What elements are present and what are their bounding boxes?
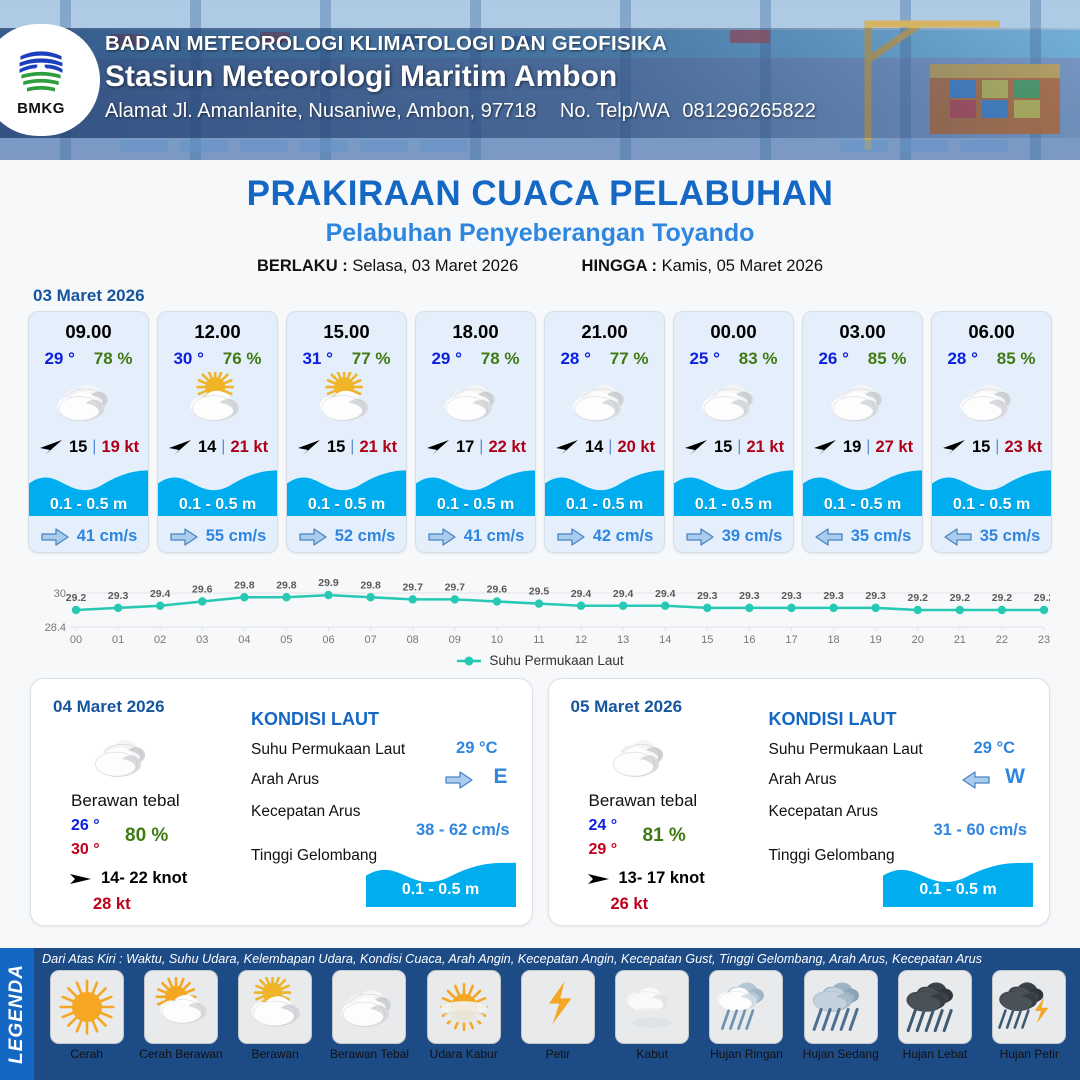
wind-direction-icon	[69, 871, 93, 887]
daily-wind-range: 14- 22 knot	[101, 869, 187, 888]
card-wind: 15 | 21 kt	[287, 437, 406, 457]
sea-condition-title: KONDISI LAUT	[769, 709, 897, 730]
card-temp-hum: 29 ° 78 %	[416, 349, 535, 369]
sst-label: Suhu Permukaan Laut	[251, 741, 405, 759]
legend-item-label: Hujan Ringan	[710, 1047, 783, 1061]
current-dir-value: W	[1005, 765, 1025, 789]
legend-section: LEGENDA Dari Atas Kiri : Waktu, Suhu Uda…	[0, 948, 1080, 1080]
current-direction-icon	[444, 771, 474, 789]
card-gust: 20 kt	[617, 438, 655, 457]
card-humidity: 76 %	[223, 349, 262, 369]
card-wind-separator: |	[995, 438, 999, 456]
card-time: 15.00	[287, 321, 406, 343]
card-humidity: 78 %	[94, 349, 133, 369]
card-current: 35 cm/s	[932, 527, 1051, 546]
card-temp-hum: 28 ° 77 %	[545, 349, 664, 369]
sst-value: 29 °C	[974, 739, 1015, 758]
svg-text:29.4: 29.4	[655, 588, 676, 600]
svg-text:29.2: 29.2	[950, 592, 971, 604]
daily-temp-min: 24 °	[589, 817, 618, 835]
card-wave-height: 0.1 - 0.5 m	[803, 496, 922, 514]
legend-item-label: Hujan Lebat	[903, 1047, 968, 1061]
wave-height-label: Tinggi Gelombang	[251, 847, 377, 865]
page-subtitle: Pelabuhan Penyeberangan Toyando	[0, 219, 1080, 248]
card-humidity: 78 %	[481, 349, 520, 369]
daily-weather-icon	[89, 727, 169, 792]
page-title: PRAKIRAAN CUACA PELABUHAN	[0, 174, 1080, 214]
card-wind-speed: 15	[714, 438, 732, 457]
phone-number: 081296265822	[682, 100, 815, 122]
card-temperature: 29 °	[431, 349, 461, 369]
wind-direction-icon	[683, 437, 709, 457]
forecast-card: 21.00 28 ° 77 % 14 | 20 kt 0.1 - 0.5 m	[544, 311, 665, 553]
card-weather-icon	[545, 373, 664, 429]
card-wave-height: 0.1 - 0.5 m	[932, 496, 1051, 514]
svg-text:17: 17	[785, 634, 797, 646]
legend-item: Hujan Petir	[985, 970, 1074, 1061]
forecast-card: 09.00 29 ° 78 % 15 | 19 kt 0.1 - 0.5 m	[28, 311, 149, 553]
card-wind-separator: |	[221, 438, 225, 456]
daily-date: 05 Maret 2026	[571, 697, 683, 717]
current-direction-icon	[814, 528, 844, 546]
card-current: 41 cm/s	[416, 527, 535, 546]
card-temp-hum: 29 ° 78 %	[29, 349, 148, 369]
daily-gust: 26 kt	[611, 895, 649, 914]
svg-text:16: 16	[743, 634, 755, 646]
legend-item-label: Berawan Tebal	[330, 1047, 409, 1061]
agency-name: BADAN METEOROLOGI KLIMATOLOGI DAN GEOFIS…	[105, 32, 816, 56]
svg-text:23: 23	[1038, 634, 1050, 646]
station-address: Alamat Jl. Amanlanite, Nusaniwe, Ambon, …	[105, 100, 536, 122]
hourly-forecast-list: 09.00 29 ° 78 % 15 | 19 kt 0.1 - 0.5 m	[0, 311, 1080, 553]
svg-text:09: 09	[449, 634, 461, 646]
card-time: 00.00	[674, 321, 793, 343]
current-dir-value: E	[493, 765, 507, 789]
valid-from-value: Selasa, 03 Maret 2026	[352, 257, 518, 275]
svg-text:29.2: 29.2	[1034, 592, 1050, 604]
card-wind-speed: 14	[198, 438, 216, 457]
card-wind: 14 | 20 kt	[545, 437, 664, 457]
card-weather-icon	[932, 373, 1051, 429]
current-direction-icon	[685, 528, 715, 546]
daily-humidity: 80 %	[125, 825, 168, 847]
card-time: 09.00	[29, 321, 148, 343]
svg-text:22: 22	[996, 634, 1008, 646]
card-current-speed: 39 cm/s	[722, 527, 783, 546]
forecast-card: 03.00 26 ° 85 % 19 | 27 kt 0.1 - 0.5 m	[802, 311, 923, 553]
card-humidity: 77 %	[352, 349, 391, 369]
forecast-card: 18.00 29 ° 78 % 17 | 22 kt 0.1 - 0.5 m	[415, 311, 536, 553]
validity-range: BERLAKU : Selasa, 03 Maret 2026 HINGGA :…	[0, 257, 1080, 276]
current-dir-label: Arah Arus	[769, 771, 837, 789]
current-direction-icon	[427, 528, 457, 546]
card-wind-separator: |	[479, 438, 483, 456]
card-current-speed: 35 cm/s	[851, 527, 912, 546]
card-temp-hum: 28 ° 85 %	[932, 349, 1051, 369]
legend-icon-kabut	[615, 970, 689, 1044]
sst-value: 29 °C	[456, 739, 497, 758]
svg-text:14: 14	[659, 634, 671, 646]
legend-icon-berawan	[238, 970, 312, 1044]
sst-chart: 3028.429.20029.30129.40229.60329.80429.8…	[30, 567, 1050, 647]
svg-text:07: 07	[364, 634, 376, 646]
svg-text:08: 08	[407, 634, 419, 646]
card-wind-speed: 15	[69, 438, 87, 457]
svg-text:29.4: 29.4	[571, 588, 592, 600]
daily-condition: Berawan tebal	[71, 791, 180, 811]
page-header: BMKG BADAN METEOROLOGI KLIMATOLOGI DAN G…	[0, 0, 1080, 160]
legend-items: Cerah Cerah Berawan Berawan Berawan Teba…	[42, 970, 1074, 1061]
legend-note: Dari Atas Kiri : Waktu, Suhu Udara, Kele…	[42, 952, 1074, 966]
card-wind: 15 | 21 kt	[674, 437, 793, 457]
legend-item: Kabut	[608, 970, 697, 1061]
daily-wind: 13- 17 knot	[587, 869, 705, 888]
card-temperature: 28 °	[947, 349, 977, 369]
wind-direction-icon	[554, 437, 580, 457]
card-current: 39 cm/s	[674, 527, 793, 546]
current-dir-label: Arah Arus	[251, 771, 319, 789]
current-direction-icon	[298, 528, 328, 546]
daily-wind: 14- 22 knot	[69, 869, 187, 888]
wave-height-label: Tinggi Gelombang	[769, 847, 895, 865]
current-dir-arrow	[961, 771, 991, 794]
card-time: 18.00	[416, 321, 535, 343]
legend-item-label: Cerah	[70, 1047, 103, 1061]
card-weather-icon	[158, 373, 277, 429]
wind-direction-icon	[425, 437, 451, 457]
card-current: 42 cm/s	[545, 527, 664, 546]
card-current-speed: 41 cm/s	[464, 527, 525, 546]
card-gust: 23 kt	[1004, 438, 1042, 457]
daily-date: 04 Maret 2026	[53, 697, 165, 717]
card-wind-speed: 14	[585, 438, 603, 457]
title-block: PRAKIRAAN CUACA PELABUHAN Pelabuhan Peny…	[0, 174, 1080, 276]
legend-item: Berawan	[231, 970, 320, 1061]
card-current-speed: 42 cm/s	[593, 527, 654, 546]
card-gust: 21 kt	[359, 438, 397, 457]
daily-condition: Berawan tebal	[589, 791, 698, 811]
svg-text:29.2: 29.2	[992, 592, 1013, 604]
station-name: Stasiun Meteorologi Maritim Ambon	[105, 60, 816, 94]
station-contact: Alamat Jl. Amanlanite, Nusaniwe, Ambon, …	[105, 100, 816, 123]
card-weather-icon	[416, 373, 535, 429]
svg-text:29.5: 29.5	[529, 586, 550, 598]
current-direction-icon	[943, 528, 973, 546]
svg-text:29.3: 29.3	[865, 590, 886, 602]
legend-icon-udara-kabur	[427, 970, 501, 1044]
legend-item: Cerah	[42, 970, 131, 1061]
legend-item-label: Kabut	[637, 1047, 668, 1061]
card-gust: 19 kt	[101, 438, 139, 457]
card-weather-icon	[287, 373, 406, 429]
valid-until-label: HINGGA :	[582, 257, 657, 275]
legend-item-label: Petir	[546, 1047, 571, 1061]
wind-direction-icon	[941, 437, 967, 457]
card-wind-separator: |	[350, 438, 354, 456]
card-weather-icon	[803, 373, 922, 429]
sst-chart-svg: 3028.429.20029.30129.40229.60329.80429.8…	[30, 567, 1050, 647]
svg-text:04: 04	[238, 634, 250, 646]
svg-text:29.7: 29.7	[445, 581, 466, 593]
card-temp-hum: 30 ° 76 %	[158, 349, 277, 369]
wind-direction-icon	[38, 437, 64, 457]
chart-legend: Suhu Permukaan Laut	[0, 653, 1080, 668]
legend-item: Petir	[513, 970, 602, 1061]
daily-temp-max: 29 °	[589, 841, 618, 859]
current-direction-icon	[169, 528, 199, 546]
svg-text:29.2: 29.2	[66, 592, 87, 604]
current-speed-label: Kecepatan Arus	[251, 803, 360, 821]
card-wind-separator: |	[608, 438, 612, 456]
svg-text:30: 30	[54, 588, 66, 600]
svg-text:13: 13	[617, 634, 629, 646]
svg-text:29.3: 29.3	[108, 590, 129, 602]
legend-icon-hujan-ringan	[709, 970, 783, 1044]
card-current: 52 cm/s	[287, 527, 406, 546]
card-wind-speed: 15	[327, 438, 345, 457]
card-wave-height: 0.1 - 0.5 m	[287, 496, 406, 514]
svg-text:29.3: 29.3	[781, 590, 802, 602]
svg-text:05: 05	[280, 634, 292, 646]
svg-text:29.9: 29.9	[318, 577, 339, 589]
legend-side-label: LEGENDA	[6, 964, 28, 1064]
legend-icon-hujan-lebat	[898, 970, 972, 1044]
card-temperature: 31 °	[302, 349, 332, 369]
card-current-speed: 41 cm/s	[77, 527, 138, 546]
chart-legend-marker	[456, 655, 482, 667]
card-wind: 17 | 22 kt	[416, 437, 535, 457]
card-temperature: 29 °	[44, 349, 74, 369]
daily-wave-value: 0.1 - 0.5 m	[883, 881, 1033, 899]
card-temperature: 25 °	[689, 349, 719, 369]
legend-icon-berawan-tebal	[332, 970, 406, 1044]
svg-text:29.4: 29.4	[613, 588, 634, 600]
legend-item: Hujan Ringan	[702, 970, 791, 1061]
card-wind: 14 | 21 kt	[158, 437, 277, 457]
card-time: 06.00	[932, 321, 1051, 343]
valid-until-value: Kamis, 05 Maret 2026	[662, 257, 823, 275]
legend-icon-petir	[521, 970, 595, 1044]
card-gust: 21 kt	[746, 438, 784, 457]
card-temperature: 30 °	[173, 349, 203, 369]
header-text-block: BADAN METEOROLOGI KLIMATOLOGI DAN GEOFIS…	[105, 32, 816, 123]
card-gust: 21 kt	[230, 438, 268, 457]
card-current: 55 cm/s	[158, 527, 277, 546]
card-current-speed: 55 cm/s	[206, 527, 267, 546]
svg-text:29.3: 29.3	[739, 590, 760, 602]
phone-label: No. Telp/WA	[560, 100, 669, 122]
legend-item-label: Berawan	[251, 1047, 298, 1061]
svg-text:03: 03	[196, 634, 208, 646]
current-speed-label: Kecepatan Arus	[769, 803, 878, 821]
card-temperature: 28 °	[560, 349, 590, 369]
current-speed-value: 31 - 60 cm/s	[933, 821, 1027, 840]
svg-text:28.4: 28.4	[45, 622, 66, 634]
valid-from-label: BERLAKU :	[257, 257, 348, 275]
current-direction-icon	[40, 528, 70, 546]
svg-text:15: 15	[701, 634, 713, 646]
card-wind-separator: |	[866, 438, 870, 456]
legend-icon-cerah-berawan	[144, 970, 218, 1044]
svg-text:29.6: 29.6	[192, 584, 213, 596]
svg-text:29.8: 29.8	[234, 579, 255, 591]
wind-direction-icon	[296, 437, 322, 457]
current-speed-value: 38 - 62 cm/s	[416, 821, 510, 840]
svg-text:18: 18	[827, 634, 839, 646]
legend-icon-hujan-petir	[992, 970, 1066, 1044]
card-wave-height: 0.1 - 0.5 m	[545, 496, 664, 514]
sea-condition-title: KONDISI LAUT	[251, 709, 379, 730]
svg-text:11: 11	[533, 634, 544, 646]
card-wind: 15 | 23 kt	[932, 437, 1051, 457]
svg-text:00: 00	[70, 634, 82, 646]
svg-text:29.8: 29.8	[360, 579, 381, 591]
legend-item: Berawan Tebal	[325, 970, 414, 1061]
svg-text:12: 12	[575, 634, 587, 646]
card-gust: 27 kt	[875, 438, 913, 457]
card-humidity: 77 %	[610, 349, 649, 369]
card-temp-hum: 25 ° 83 %	[674, 349, 793, 369]
daily-panel: 04 Maret 2026 Berawan tebal 26 ° 30 ° 80…	[30, 678, 533, 926]
wind-direction-icon	[812, 437, 838, 457]
daily-forecast-panels: 04 Maret 2026 Berawan tebal 26 ° 30 ° 80…	[0, 678, 1080, 926]
svg-text:29.6: 29.6	[487, 584, 508, 596]
daily-gust: 28 kt	[93, 895, 131, 914]
forecast-card: 12.00 30 ° 76 % 14 | 21 kt 0.1 - 0.5 m 5…	[157, 311, 278, 553]
card-gust: 22 kt	[488, 438, 526, 457]
card-wind-separator: |	[737, 438, 741, 456]
legend-item-label: Hujan Sedang	[803, 1047, 879, 1061]
card-wind-speed: 17	[456, 438, 474, 457]
card-time: 21.00	[545, 321, 664, 343]
card-humidity: 85 %	[997, 349, 1036, 369]
svg-text:01: 01	[112, 634, 124, 646]
card-wind: 15 | 19 kt	[29, 437, 148, 457]
card-time: 03.00	[803, 321, 922, 343]
card-current-speed: 35 cm/s	[980, 527, 1041, 546]
card-time: 12.00	[158, 321, 277, 343]
chart-legend-label: Suhu Permukaan Laut	[489, 653, 623, 668]
current-direction-icon	[961, 771, 991, 789]
legend-icon-hujan-sedang	[804, 970, 878, 1044]
card-weather-icon	[29, 373, 148, 429]
card-wind-speed: 19	[843, 438, 861, 457]
svg-text:02: 02	[154, 634, 166, 646]
daily-panel: 05 Maret 2026 Berawan tebal 24 ° 29 ° 81…	[548, 678, 1051, 926]
svg-text:20: 20	[912, 634, 924, 646]
card-wind: 19 | 27 kt	[803, 437, 922, 457]
svg-text:29.3: 29.3	[823, 590, 844, 602]
bmkg-logo-text: BMKG	[17, 100, 65, 117]
weather-forecast-poster: BMKG BADAN METEOROLOGI KLIMATOLOGI DAN G…	[0, 0, 1080, 1080]
legend-side-bar: LEGENDA	[0, 948, 34, 1080]
svg-text:19: 19	[870, 634, 882, 646]
svg-text:29.8: 29.8	[276, 579, 297, 591]
wind-direction-icon	[167, 437, 193, 457]
legend-item-label: Cerah Berawan	[139, 1047, 222, 1061]
daily-temp-min: 26 °	[71, 817, 100, 835]
wind-direction-icon	[587, 871, 611, 887]
daily-humidity: 81 %	[643, 825, 686, 847]
card-wind-separator: |	[92, 438, 96, 456]
svg-text:29.2: 29.2	[908, 592, 929, 604]
legend-item: Udara Kabur	[419, 970, 508, 1061]
svg-text:29.4: 29.4	[150, 588, 171, 600]
card-humidity: 83 %	[739, 349, 778, 369]
legend-item: Hujan Sedang	[796, 970, 885, 1061]
legend-item-label: Udara Kabur	[430, 1047, 498, 1061]
svg-text:21: 21	[954, 634, 966, 646]
card-current-speed: 52 cm/s	[335, 527, 396, 546]
card-current: 35 cm/s	[803, 527, 922, 546]
bmkg-logo-icon	[13, 43, 69, 99]
svg-text:29.3: 29.3	[697, 590, 718, 602]
card-temp-hum: 31 ° 77 %	[287, 349, 406, 369]
legend-item: Cerah Berawan	[136, 970, 225, 1061]
legend-item: Hujan Lebat	[890, 970, 979, 1061]
legend-item-label: Hujan Petir	[1000, 1047, 1059, 1061]
forecast-card: 06.00 28 ° 85 % 15 | 23 kt 0.1 - 0.5 m	[931, 311, 1052, 553]
current-direction-icon	[556, 528, 586, 546]
legend-icon-cerah	[50, 970, 124, 1044]
daily-temp-max: 30 °	[71, 841, 100, 859]
svg-text:10: 10	[491, 634, 503, 646]
current-dir-arrow	[444, 771, 474, 794]
card-wave-height: 0.1 - 0.5 m	[674, 496, 793, 514]
daily-weather-icon	[607, 727, 687, 792]
card-weather-icon	[674, 373, 793, 429]
card-humidity: 85 %	[868, 349, 907, 369]
card-wind-speed: 15	[972, 438, 990, 457]
forecast-card: 00.00 25 ° 83 % 15 | 21 kt 0.1 - 0.5 m	[673, 311, 794, 553]
card-current: 41 cm/s	[29, 527, 148, 546]
daily-wind-range: 13- 17 knot	[619, 869, 705, 888]
card-wave-height: 0.1 - 0.5 m	[416, 496, 535, 514]
legend-body: Dari Atas Kiri : Waktu, Suhu Udara, Kele…	[34, 948, 1080, 1080]
svg-text:06: 06	[322, 634, 334, 646]
svg-text:29.7: 29.7	[402, 581, 423, 593]
forecast-date-label: 03 Maret 2026	[33, 286, 1080, 306]
card-wave-height: 0.1 - 0.5 m	[29, 496, 148, 514]
card-temperature: 26 °	[818, 349, 848, 369]
card-temp-hum: 26 ° 85 %	[803, 349, 922, 369]
sst-label: Suhu Permukaan Laut	[769, 741, 923, 759]
card-wave-height: 0.1 - 0.5 m	[158, 496, 277, 514]
daily-wave-value: 0.1 - 0.5 m	[366, 881, 516, 899]
forecast-card: 15.00 31 ° 77 % 15 | 21 kt 0.1 - 0.5 m 5…	[286, 311, 407, 553]
